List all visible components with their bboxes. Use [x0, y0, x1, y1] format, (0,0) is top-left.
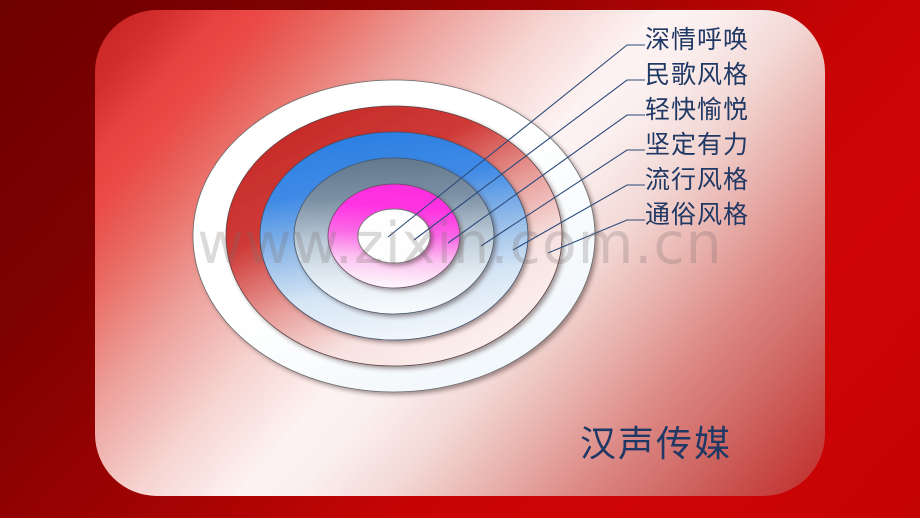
brand-title: 汉声传媒 [580, 415, 732, 467]
label-item-minge-fengge[interactable]: 民歌风格 [645, 57, 749, 92]
concentric-ring-diagram [0, 0, 920, 518]
label-item-liuxing-fengge[interactable]: 流行风格 [645, 162, 749, 197]
label-item-jianding-youli[interactable]: 坚定有力 [645, 127, 749, 162]
slide-canvas: www.zixin.com.cn 深情呼唤 民歌风格 轻快愉悦 坚定有力 流行风… [0, 0, 920, 518]
label-item-tongsu-fengge[interactable]: 通俗风格 [645, 197, 749, 232]
label-item-shenqing-huhuan[interactable]: 深情呼唤 [645, 22, 749, 57]
label-item-qingkuai-yuyue[interactable]: 轻快愉悦 [645, 92, 749, 127]
label-list: 深情呼唤 民歌风格 轻快愉悦 坚定有力 流行风格 通俗风格 [645, 22, 749, 232]
